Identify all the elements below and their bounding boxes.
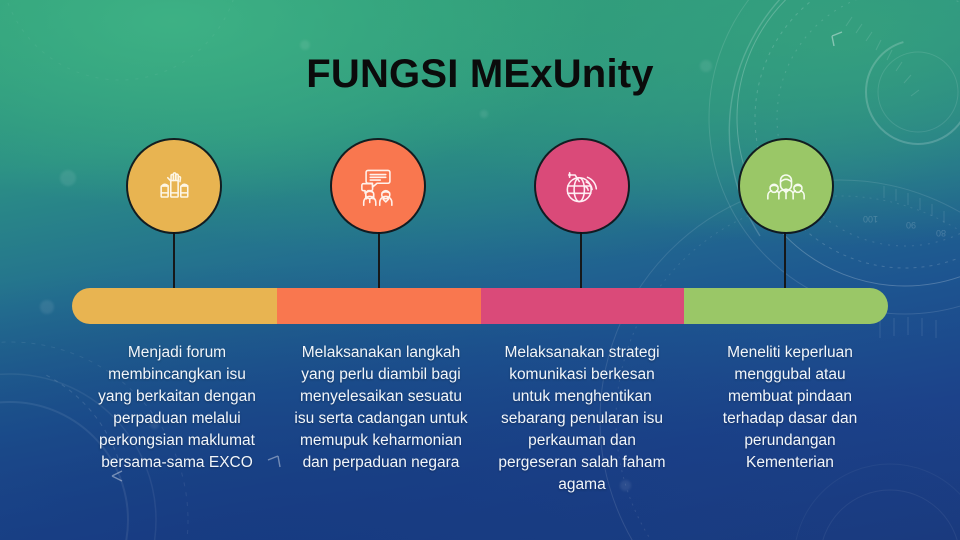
raised-hands-icon [152,164,196,208]
people-discussion-icon [356,164,400,208]
segmented-bar [72,288,888,324]
icon-circle-1[interactable] [128,140,220,232]
connector-line-4 [784,224,786,290]
caption-1: Menjadi forum membincangkan isu yang ber… [96,342,258,474]
connector-line-1 [173,224,175,290]
connector-line-2 [378,224,380,290]
globe-broadcast-icon [560,164,604,208]
people-group-icon [764,164,808,208]
bar-segment-3 [481,288,684,324]
svg-text:100: 100 [863,214,878,224]
icon-circle-4[interactable] [740,140,832,232]
bar-segment-4 [684,288,888,324]
connector-line-3 [580,224,582,290]
slide-canvas: 100 90 80 FUNGSI MExUnity [0,0,960,540]
icon-circle-3[interactable] [536,140,628,232]
svg-text:80: 80 [936,228,946,238]
icon-circle-2[interactable] [332,140,424,232]
caption-3: Melaksanakan strategi komunikasi berkesa… [490,342,674,496]
svg-text:90: 90 [906,220,916,230]
bar-segment-2 [277,288,481,324]
bar-segment-1 [72,288,277,324]
caption-4: Meneliti keperluan menggubal atau membua… [706,342,874,474]
page-title: FUNGSI MExUnity [0,52,960,97]
caption-2: Melaksanakan langkah yang perlu diambil … [288,342,474,474]
